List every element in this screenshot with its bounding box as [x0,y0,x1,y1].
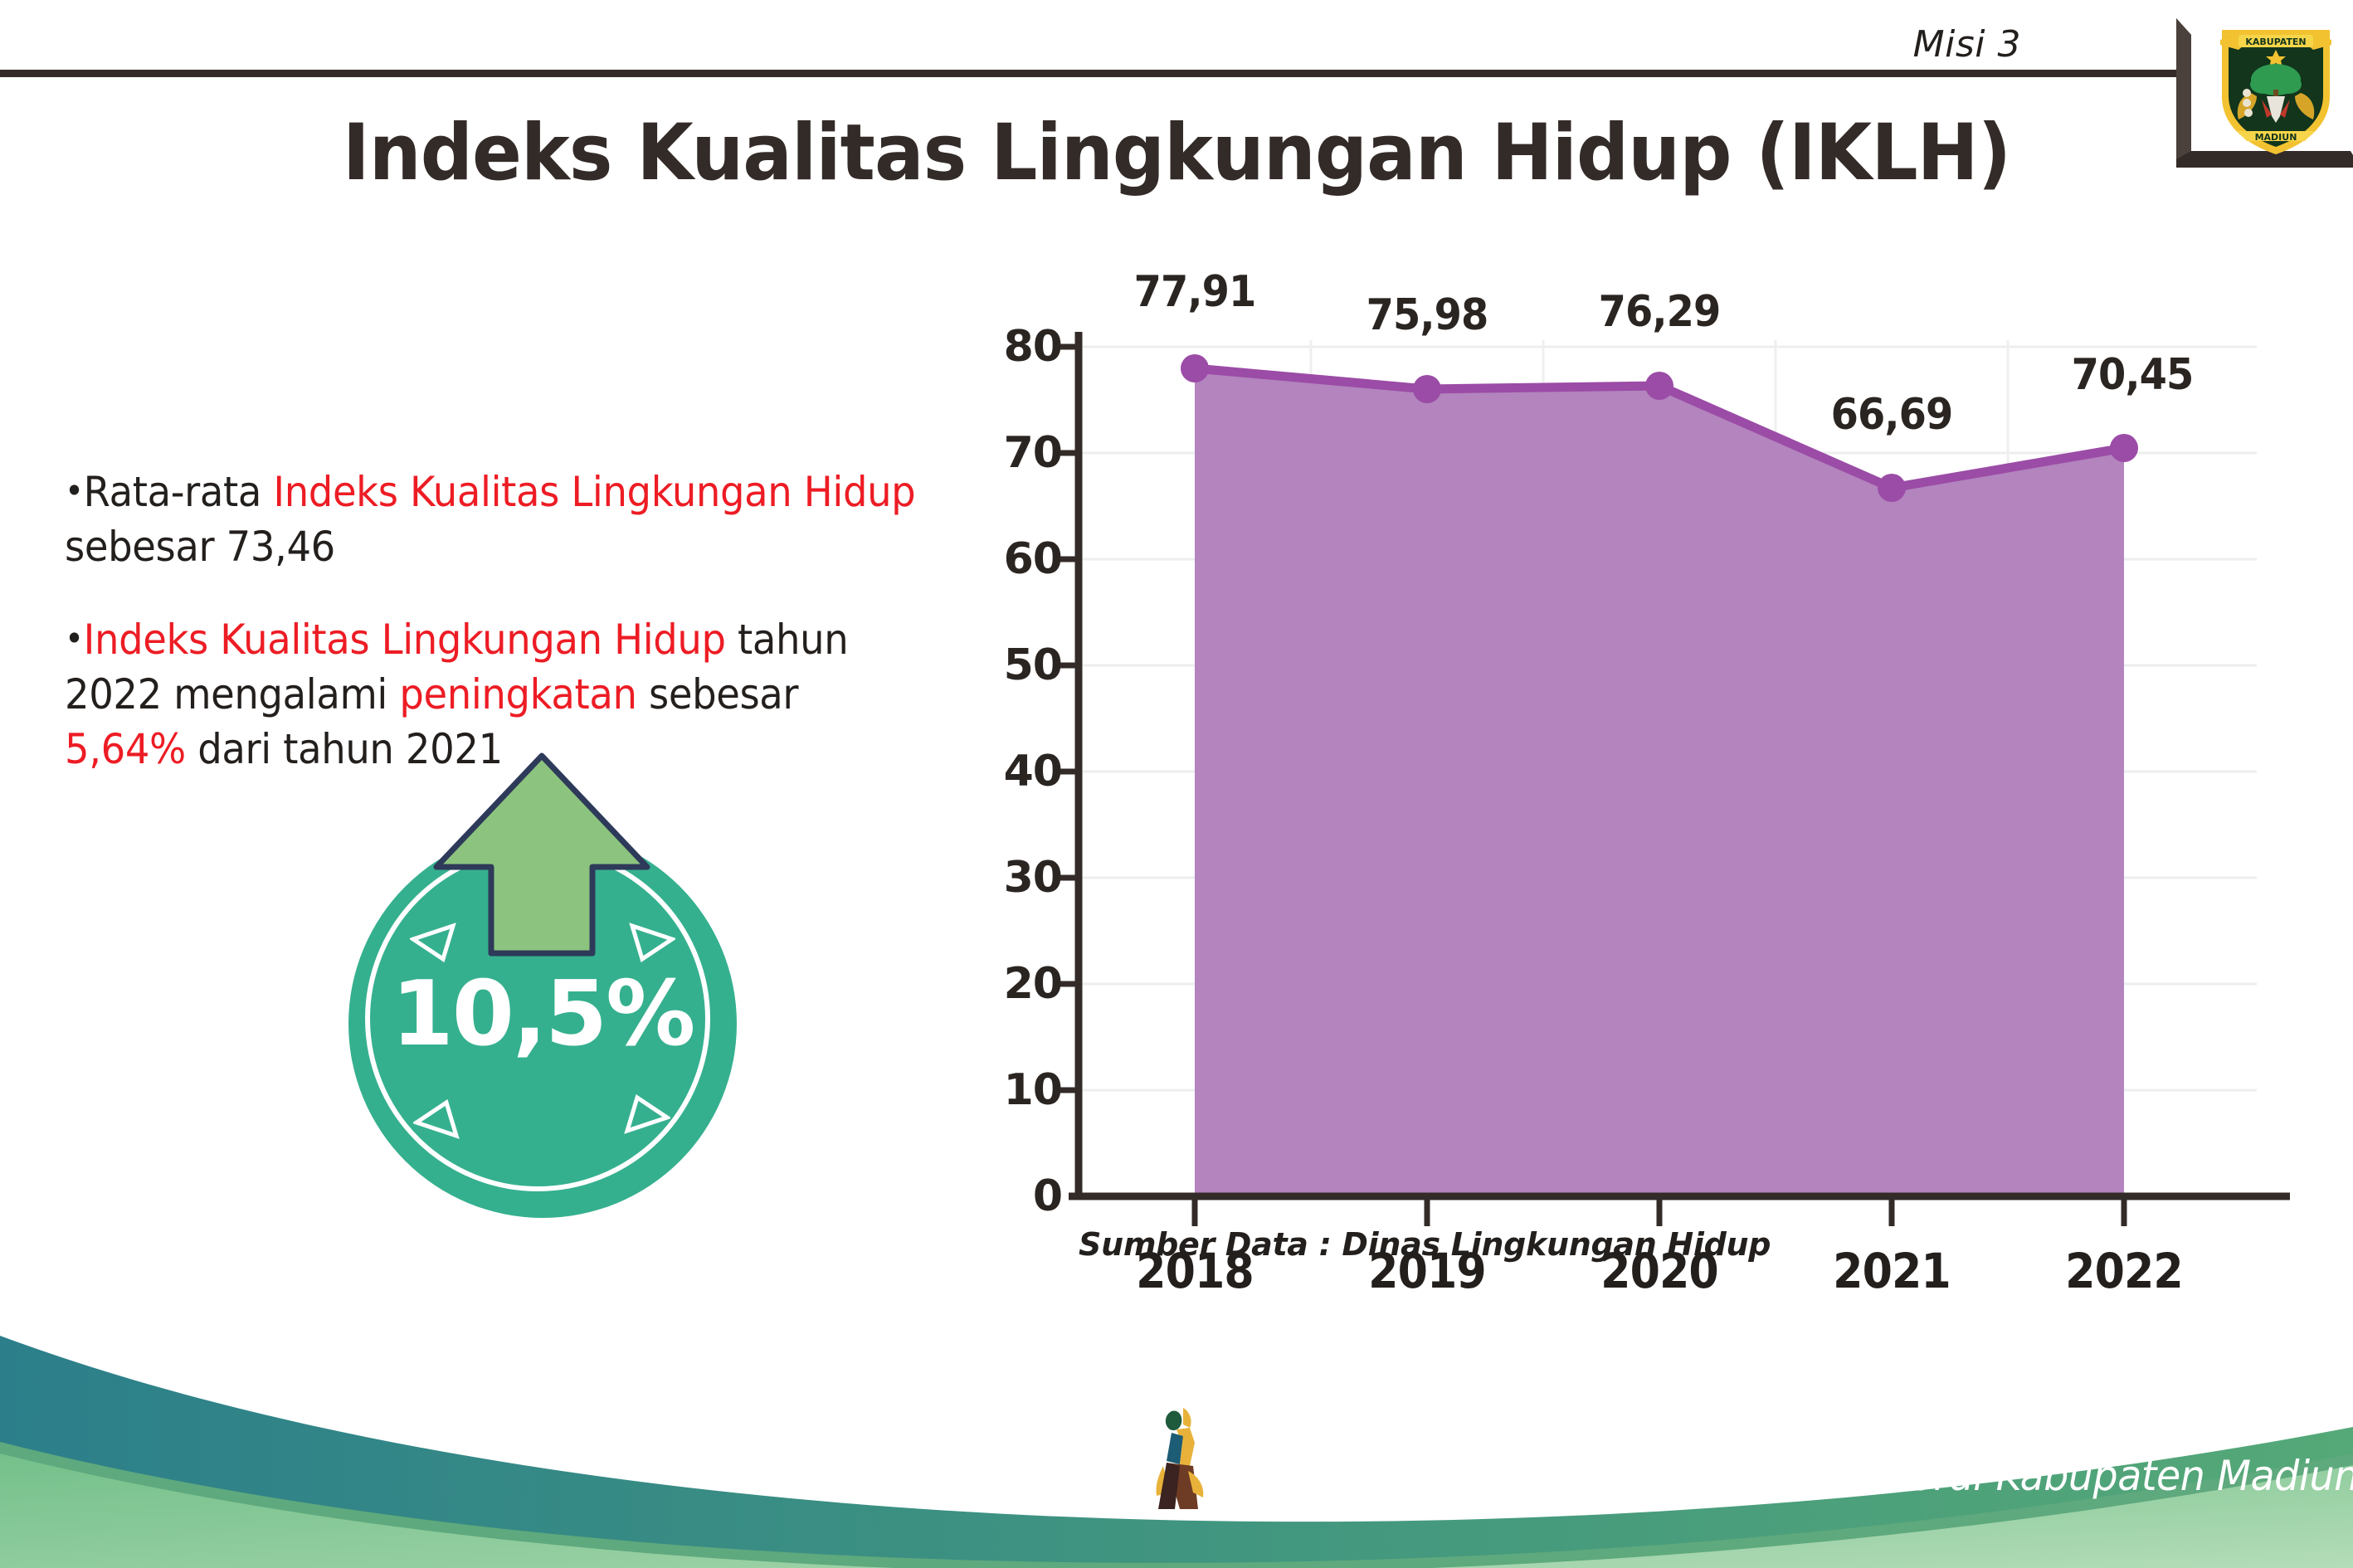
badge-value: 10,5% [348,962,737,1066]
x-axis-tick-label: 2021 [1810,1243,1974,1299]
source-note: Sumber Data : Dinas Lingkungan Hidup [1079,1226,1771,1263]
data-label: 76,29 [1568,287,1751,337]
bullet-marker: • [65,470,84,511]
badge-tick-arrow-bottom-right [622,1093,670,1136]
bullet-item: •Rata-rata Indeks Kualitas Lingkungan Hi… [65,465,929,574]
misi-label: Misi 3 [1913,23,2021,66]
bullet-segment: sebesar [637,670,799,718]
x-axis-tick-label: 2022 [2042,1243,2206,1299]
bullet-segment-highlight: Indeks Kualitas Lingkungan Hidup [273,468,915,516]
increase-badge: 10,5% [330,751,762,1215]
data-label: 75,98 [1336,290,1519,340]
bullet-segment: sebesar 73,46 [65,523,335,571]
dancer-logo-icon [1147,1400,1234,1520]
up-arrow-icon [430,751,654,967]
data-label: 70,45 [2041,350,2224,400]
bullet-segment-highlight: peningkatan [399,670,636,718]
data-point-marker [1181,354,1209,382]
data-point-marker [1645,372,1673,400]
header-rule [0,70,2180,77]
footer-text: Media Infografis Data Statistik Sektoral… [1228,1452,2353,1500]
bullet-segment-highlight: Indeks Kualitas Lingkungan Hidup [84,616,726,664]
data-point-marker [1413,375,1441,403]
bullet-segment-highlight: 5,64% [65,725,186,773]
bullet-segment: Rata-rata [84,468,274,516]
badge-tick-arrow-bottom-left [413,1098,461,1141]
page-title: Indeks Kualitas Lingkungan Hidup (IKLH) [71,108,2282,198]
data-label: 66,69 [1800,390,1984,440]
data-label: 77,91 [1103,267,1287,317]
iklh-area-chart: 80 70 60 50 40 30 20 10 0 [962,282,2290,1278]
emblem-top-label: KABUPATEN [2245,37,2306,47]
chart-plot [962,282,2290,1278]
area-fill [1195,368,2124,1196]
data-point-marker [2110,434,2138,462]
bullet-marker: • [65,618,84,659]
data-point-marker [1878,474,1906,502]
